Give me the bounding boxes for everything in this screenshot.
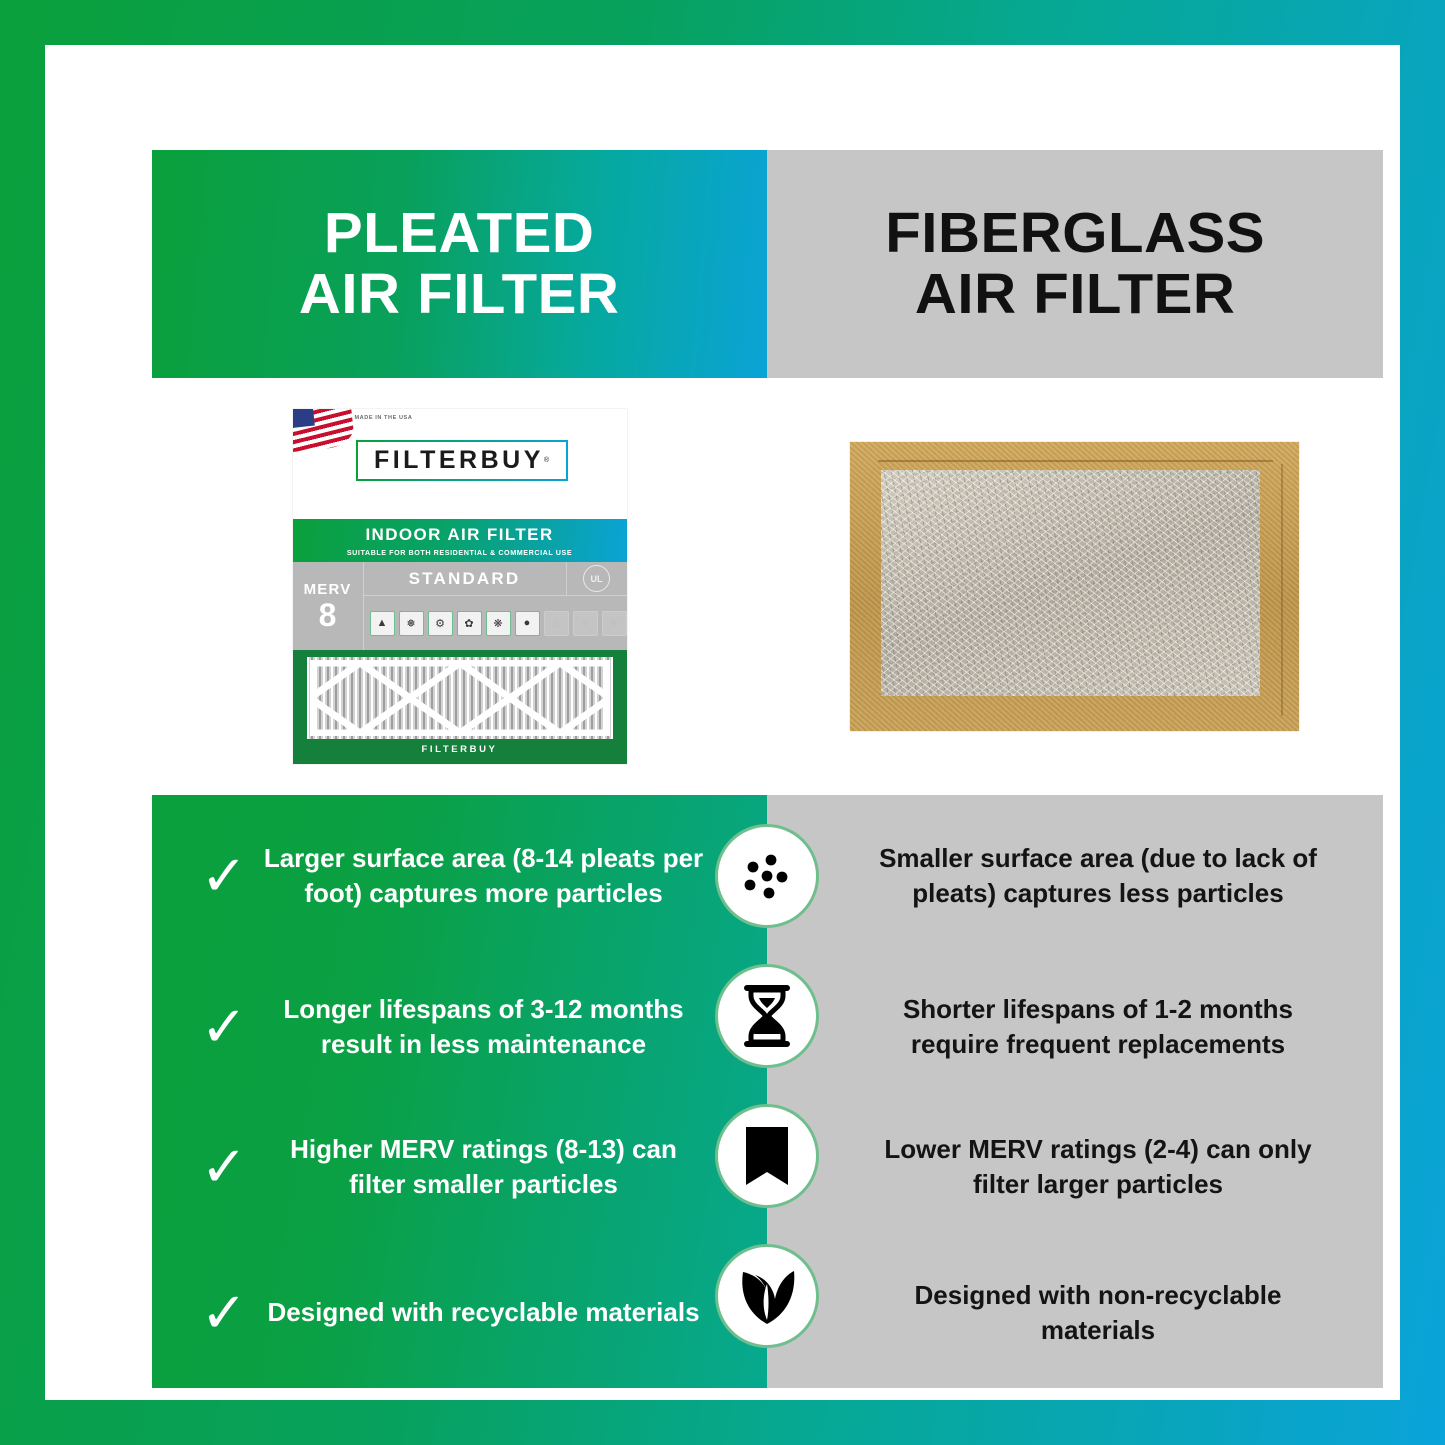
comparison-right-text: Designed with non-recyclable materials <box>859 1278 1337 1347</box>
captured-particle-icon-strip: ▲ ❅ ⚙ ✿ ❋ ● ♨ ⚬ ✳ <box>364 596 627 650</box>
header-fiberglass: FIBERGLASS AIR FILTER <box>767 150 1383 378</box>
comparison-left-text: Designed with recyclable materials <box>262 1295 767 1330</box>
lint-icon: ❅ <box>399 611 424 636</box>
box-spec-section: MERV 8 STANDARD UL <box>293 562 627 650</box>
comparison-cell-right: Lower MERV ratings (2-4) can only filter… <box>767 1097 1383 1237</box>
checkmark-icon: ✓ <box>192 1139 256 1195</box>
comparison-infographic: PLEATED AIR FILTER FIBERGLASS AIR FILTER… <box>152 150 1383 1388</box>
header-fiberglass-title: FIBERGLASS AIR FILTER <box>885 203 1265 325</box>
comparison-section: ✓ Larger surface area (8-14 pleats per f… <box>152 795 1383 1388</box>
box-grade-row: STANDARD UL <box>364 562 627 596</box>
bacteria-icon: ⚬ <box>573 611 598 636</box>
checkmark-icon: ✓ <box>192 848 256 904</box>
box-top-section: MADE IN THE USA FILTERBUY® <box>293 409 627 519</box>
dust-icon: ▲ <box>370 611 395 636</box>
hourglass-icon-glyph <box>739 984 795 1048</box>
comparison-right-text: Lower MERV ratings (2-4) can only filter… <box>859 1132 1337 1201</box>
dust-mite-icon: ❋ <box>486 611 511 636</box>
comparison-right-text: Shorter lifespans of 1-2 months require … <box>859 992 1337 1061</box>
virus-icon: ✳ <box>602 611 627 636</box>
filter-grade-label: STANDARD <box>364 562 567 596</box>
pleated-product-cell: MADE IN THE USA FILTERBUY® INDOOR AIR FI… <box>152 378 767 795</box>
bookmark-icon-glyph <box>742 1125 792 1187</box>
filterbuy-logo-text: FILTERBUY <box>374 446 544 475</box>
hourglass-icon <box>715 964 819 1068</box>
merv-value: 8 <box>319 599 337 631</box>
particles-icon <box>715 824 819 928</box>
box-filter-media-section: FILTERBUY <box>293 650 627 764</box>
particles-icon-glyph <box>736 845 798 907</box>
merv-label: MERV <box>304 581 352 598</box>
comparison-left-text: Larger surface area (8-14 pleats per foo… <box>262 841 767 910</box>
smoke-icon: ♨ <box>544 611 569 636</box>
ul-cell: UL <box>567 562 627 596</box>
pleated-media-texture <box>307 657 613 739</box>
comparison-cell-left: ✓ Higher MERV ratings (8-13) can filter … <box>152 1097 767 1237</box>
bookmark-icon <box>715 1104 819 1208</box>
pollen-icon: ✿ <box>457 611 482 636</box>
header-row: PLEATED AIR FILTER FIBERGLASS AIR FILTER <box>152 150 1383 378</box>
product-image-row: MADE IN THE USA FILTERBUY® INDOOR AIR FI… <box>152 378 1383 795</box>
box-band-subtitle: SUITABLE FOR BOTH RESIDENTIAL & COMMERCI… <box>347 548 572 557</box>
comparison-cell-left: ✓ Larger surface area (8-14 pleats per f… <box>152 795 767 957</box>
comparison-cell-right: Smaller surface area (due to lack of ple… <box>767 795 1383 957</box>
box-bottom-brand: FILTERBUY <box>422 744 498 755</box>
white-mat: PLEATED AIR FILTER FIBERGLASS AIR FILTER… <box>45 45 1400 1400</box>
comparison-left-text: Longer lifespans of 3-12 months result i… <box>262 992 767 1061</box>
comparison-left-text: Higher MERV ratings (8-13) can filter sm… <box>262 1132 767 1201</box>
mold-icon: ⚙ <box>428 611 453 636</box>
comparison-cell-left: ✓ Designed with recyclable materials <box>152 1237 767 1388</box>
leaf-icon-glyph <box>736 1266 798 1326</box>
frame-seam-top <box>878 460 1273 462</box>
checkmark-icon: ✓ <box>192 999 256 1055</box>
fiberglass-filter-image <box>850 442 1299 731</box>
header-pleated-title: PLEATED AIR FILTER <box>299 203 620 325</box>
merv-rating-cell: MERV 8 <box>293 562 364 650</box>
outer-gradient-frame: PLEATED AIR FILTER FIBERGLASS AIR FILTER… <box>0 0 1445 1445</box>
leaf-icon <box>715 1244 819 1348</box>
box-band-title: INDOOR AIR FILTER <box>365 525 553 545</box>
checkmark-icon: ✓ <box>192 1285 256 1341</box>
pet-dander-icon: ● <box>515 611 540 636</box>
ul-certification-icon: UL <box>583 565 610 592</box>
frame-seam-right <box>1281 464 1283 716</box>
pleated-filter-box-image: MADE IN THE USA FILTERBUY® INDOOR AIR FI… <box>293 409 627 764</box>
fiberglass-media <box>881 470 1260 696</box>
fiberglass-product-cell <box>767 378 1382 795</box>
filter-support-grid-icon <box>310 660 610 736</box>
filterbuy-logo: FILTERBUY® <box>356 440 568 481</box>
comparison-cell-right: Designed with non-recyclable materials <box>767 1237 1383 1388</box>
header-pleated: PLEATED AIR FILTER <box>152 150 767 378</box>
usa-flag-icon <box>293 409 355 452</box>
comparison-cell-right: Shorter lifespans of 1-2 months require … <box>767 957 1383 1097</box>
made-in-usa-label: MADE IN THE USA <box>355 414 413 422</box>
box-indoor-band: INDOOR AIR FILTER SUITABLE FOR BOTH RESI… <box>293 519 627 562</box>
registered-trademark-icon: ® <box>544 457 549 464</box>
comparison-cell-left: ✓ Longer lifespans of 3-12 months result… <box>152 957 767 1097</box>
comparison-right-text: Smaller surface area (due to lack of ple… <box>859 841 1337 910</box>
box-spec-right: STANDARD UL ▲ ❅ ⚙ ✿ <box>364 562 627 650</box>
